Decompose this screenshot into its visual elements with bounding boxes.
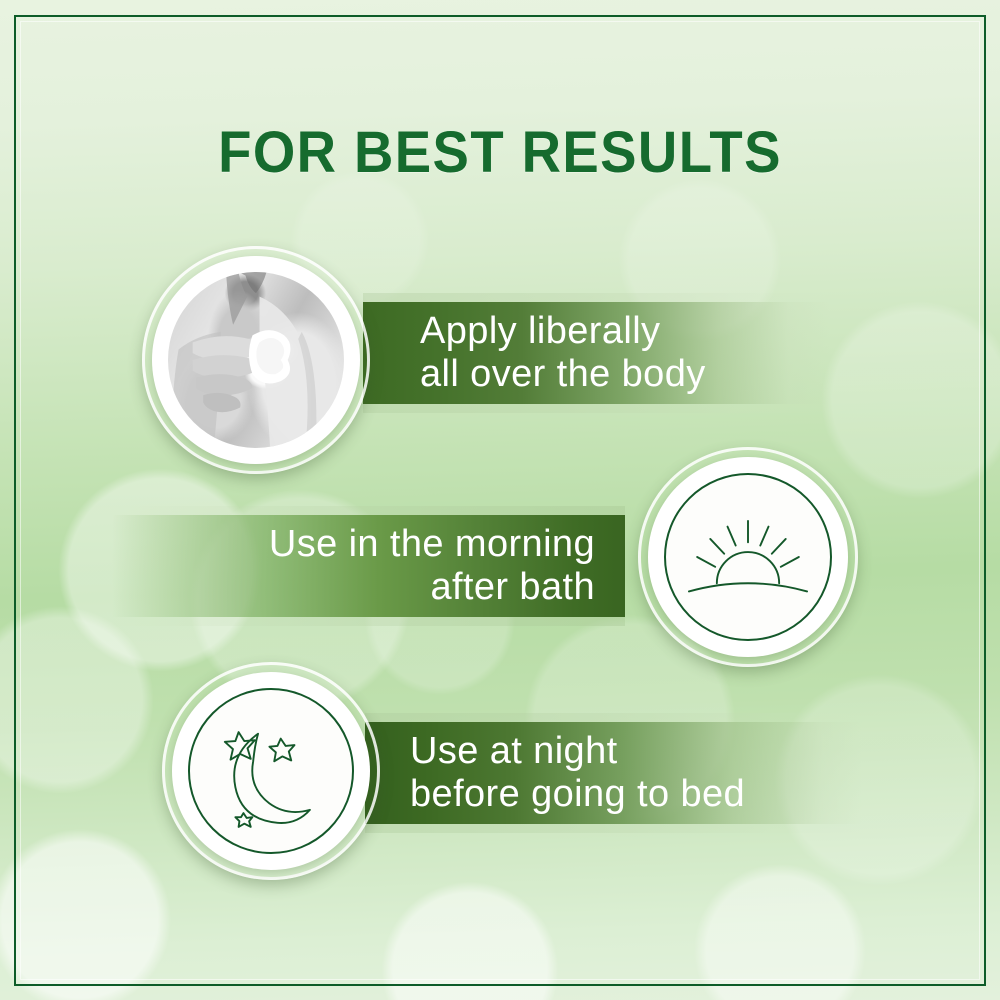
step-band-1: Apply liberally all over the body <box>363 302 830 404</box>
apply-cream-photo <box>168 272 344 448</box>
step-3-text: Use at night before going to bed <box>410 730 745 816</box>
step-3-badge <box>162 662 380 880</box>
step-1-text: Apply liberally all over the body <box>420 310 706 396</box>
step-band-2: Use in the morning after bath <box>112 515 625 617</box>
step-2-text: Use in the morning after bath <box>269 523 595 609</box>
badge-disc <box>664 473 832 641</box>
step-band-3: Use at night before going to bed <box>365 722 862 824</box>
crescent-moon-stars-icon <box>190 690 352 852</box>
badge-disc <box>168 272 344 448</box>
poster-canvas: FOR BEST RESULTS Apply liberally all ove… <box>0 0 1000 1000</box>
step-2-badge <box>638 447 858 667</box>
sunrise-icon <box>666 475 830 639</box>
badge-disc <box>188 688 354 854</box>
step-1-badge <box>142 246 370 474</box>
page-title: FOR BEST RESULTS <box>30 119 970 186</box>
